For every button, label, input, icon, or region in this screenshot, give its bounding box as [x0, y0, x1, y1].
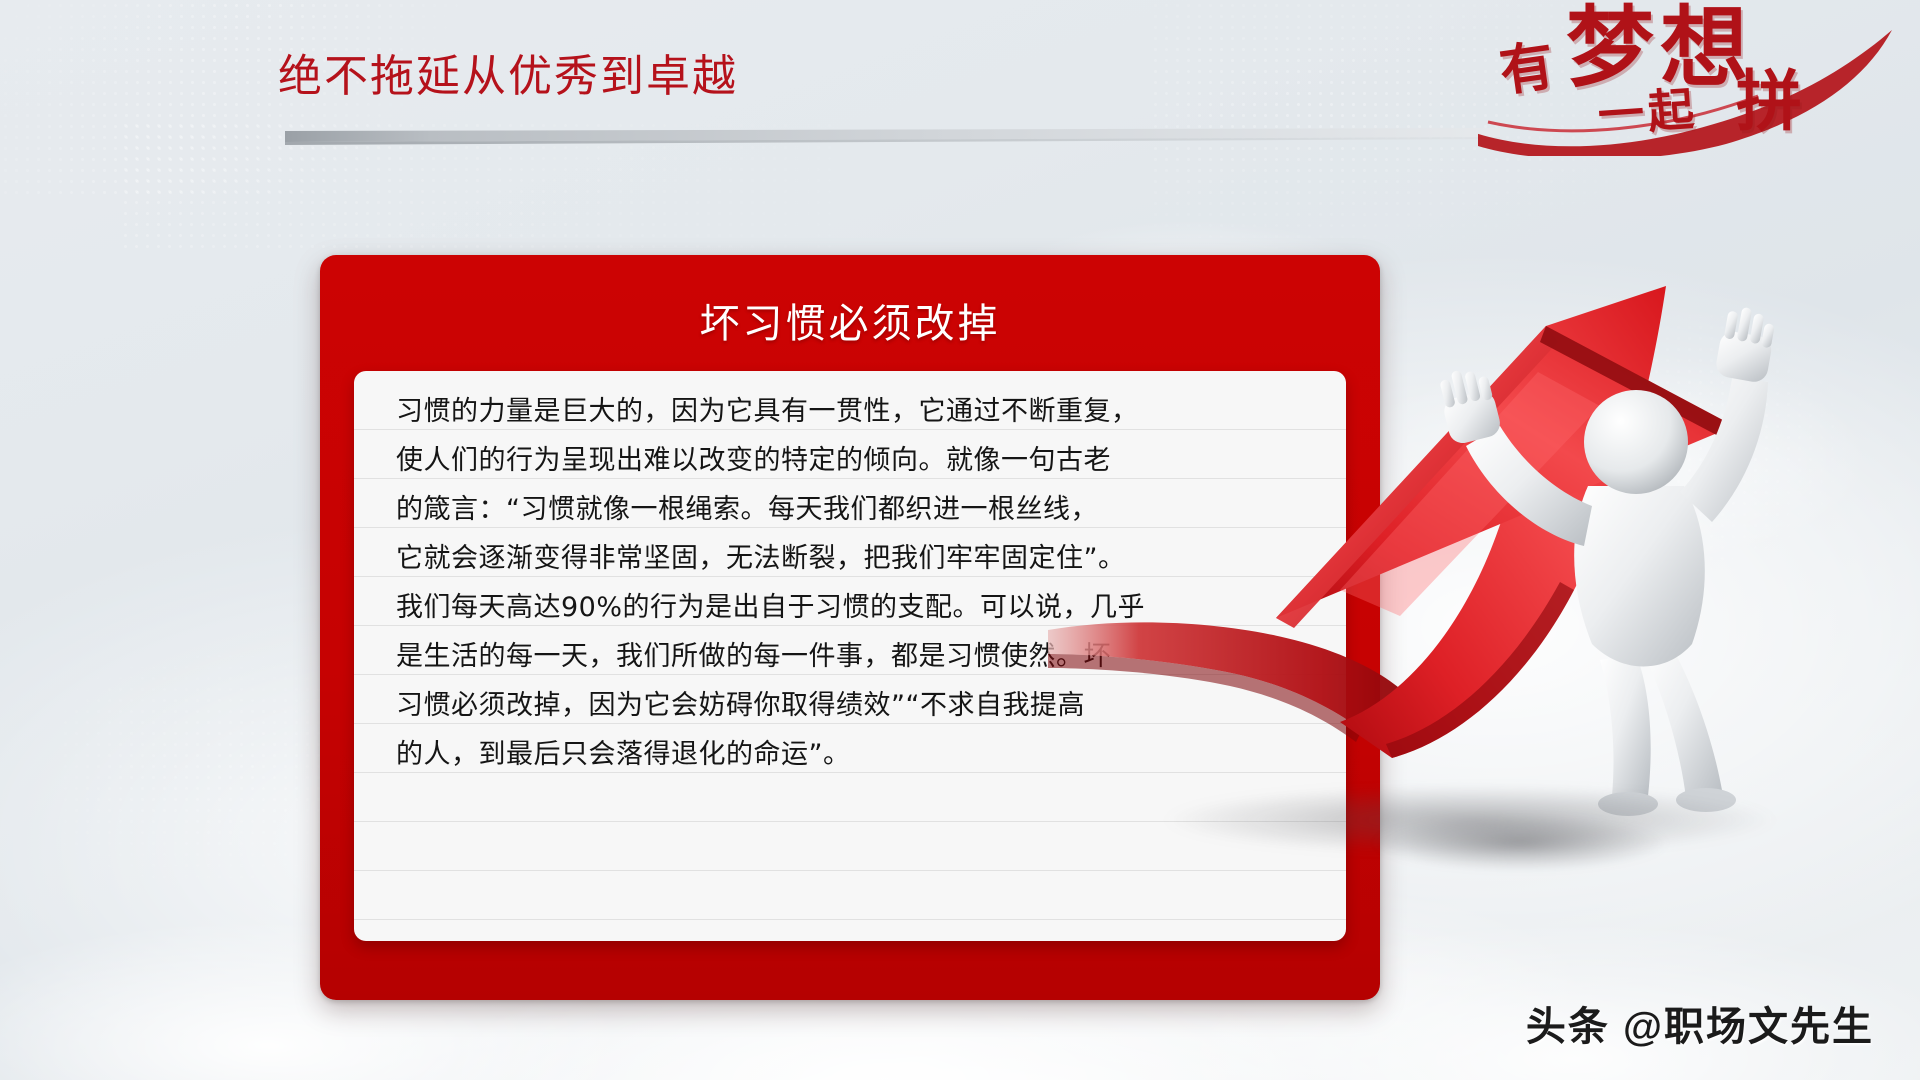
logo-word-you: 有 [1497, 39, 1558, 100]
figure-ground-shadow [1370, 815, 1670, 871]
brand-logo: 有 梦想 一起 拼 [1478, 4, 1898, 156]
logo-word-yiqi: 一起 [1597, 87, 1700, 140]
page-title: 绝不拖延从优秀到卓越 [278, 55, 738, 99]
title-divider [285, 128, 1500, 146]
logo-word-pin: 拼 [1736, 70, 1804, 136]
slide-canvas: 绝不拖延从优秀到卓越 有 梦想 [0, 0, 1920, 1080]
logo-word-mengxiang: 梦想 [1566, 6, 1754, 94]
watermark-text: 头条 @职场文先生 [1526, 994, 1874, 1052]
arrow-figure-illustration [1040, 230, 1920, 930]
